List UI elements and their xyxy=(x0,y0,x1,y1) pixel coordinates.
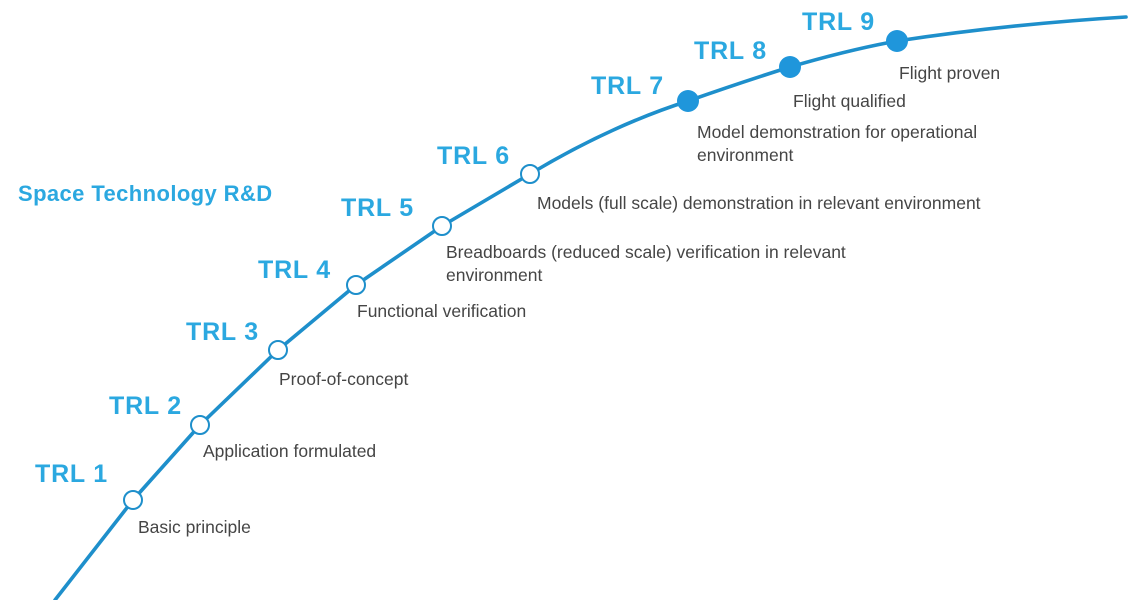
trl-label-1: TRL 1 xyxy=(35,460,108,489)
trl-label-2: TRL 2 xyxy=(109,392,182,421)
trl-description-3: Proof-of-concept xyxy=(279,368,408,391)
trl-label-5: TRL 5 xyxy=(341,194,414,223)
trl-label-4: TRL 4 xyxy=(258,256,331,285)
page-title: Space Technology R&D xyxy=(18,181,273,207)
trl-description-9: Flight proven xyxy=(899,62,1000,85)
trl-diagram: Space Technology R&D TRL 1Basic principl… xyxy=(0,0,1136,600)
trl-description-5: Breadboards (reduced scale) verification… xyxy=(446,241,846,287)
trl-label-7: TRL 7 xyxy=(591,72,664,101)
trl-node-6[interactable] xyxy=(520,164,540,184)
trl-description-4: Functional verification xyxy=(357,300,526,323)
trl-curve-path xyxy=(55,17,1126,600)
trl-description-6: Models (full scale) demonstration in rel… xyxy=(537,192,981,215)
trl-description-2: Application formulated xyxy=(203,440,376,463)
trl-description-8: Flight qualified xyxy=(793,90,906,113)
trl-node-1[interactable] xyxy=(123,490,143,510)
trl-progression-curve xyxy=(0,0,1136,600)
trl-description-7: Model demonstration for operational envi… xyxy=(697,121,977,167)
trl-node-8[interactable] xyxy=(779,56,801,78)
trl-node-4[interactable] xyxy=(346,275,366,295)
trl-label-9: TRL 9 xyxy=(802,8,875,37)
trl-node-5[interactable] xyxy=(432,216,452,236)
trl-description-1: Basic principle xyxy=(138,516,251,539)
trl-node-9[interactable] xyxy=(886,30,908,52)
trl-node-7[interactable] xyxy=(677,90,699,112)
trl-label-6: TRL 6 xyxy=(437,142,510,171)
trl-label-3: TRL 3 xyxy=(186,318,259,347)
trl-label-8: TRL 8 xyxy=(694,37,767,66)
trl-node-2[interactable] xyxy=(190,415,210,435)
trl-node-3[interactable] xyxy=(268,340,288,360)
